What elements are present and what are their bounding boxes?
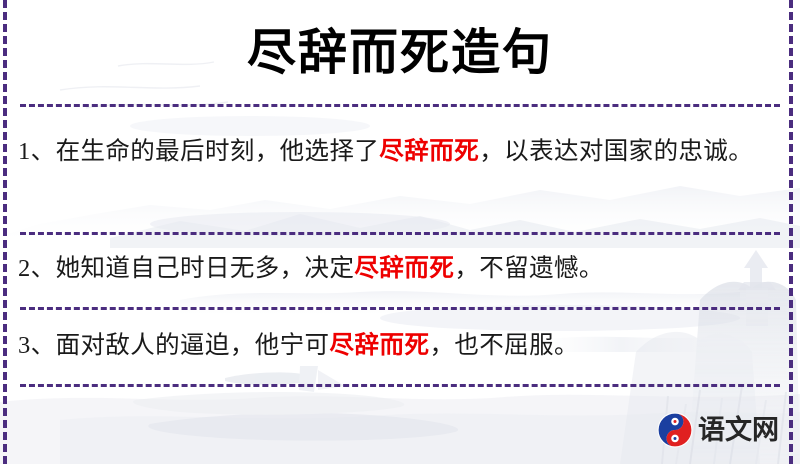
list-item: 3、面对敌人的逼迫，他宁可尽辞而死，也不屈服。	[18, 324, 774, 367]
sentence-text-before: 面对敌人的逼迫，他宁可	[56, 332, 330, 359]
sentence-text-before: 在生命的最后时刻，他选择了	[56, 138, 380, 165]
list-item: 1、在生命的最后时刻，他选择了尽辞而死，以表达对国家的忠诚。	[18, 130, 774, 173]
sentence-text-after: ，不留遗憾。	[454, 255, 603, 282]
frame-left-dashed-rule	[3, 0, 7, 464]
sentence-index: 1、	[18, 138, 56, 165]
separator-1	[20, 232, 780, 235]
sentence-text-before: 她知道自己时日无多，决定	[56, 255, 355, 282]
sentence-index: 3、	[18, 332, 56, 359]
site-logo[interactable]: 语文网	[657, 412, 779, 448]
sentence-example-card: 尽辞而死造句 1、在生命的最后时刻，他选择了尽辞而死，以表达对国家的忠诚。 2、…	[0, 0, 800, 464]
keyword-highlight: 尽辞而死	[379, 136, 479, 165]
separator-top	[20, 104, 780, 107]
list-item: 2、她知道自己时日无多，决定尽辞而死，不留遗憾。	[18, 247, 774, 290]
sentence-text-after: ，也不屈服。	[429, 332, 578, 359]
separator-bottom	[20, 384, 780, 387]
sentence-index: 2、	[18, 255, 56, 282]
page-title: 尽辞而死造句	[0, 22, 800, 83]
frame-right-dashed-rule	[789, 0, 793, 464]
sentence-text-after: ，以表达对国家的忠诚。	[479, 138, 753, 165]
keyword-highlight: 尽辞而死	[354, 253, 454, 282]
separator-2	[20, 307, 780, 310]
keyword-highlight: 尽辞而死	[329, 330, 429, 359]
site-logo-text: 语文网	[698, 417, 779, 444]
yuwen-yinyang-emblem-icon	[657, 412, 693, 448]
